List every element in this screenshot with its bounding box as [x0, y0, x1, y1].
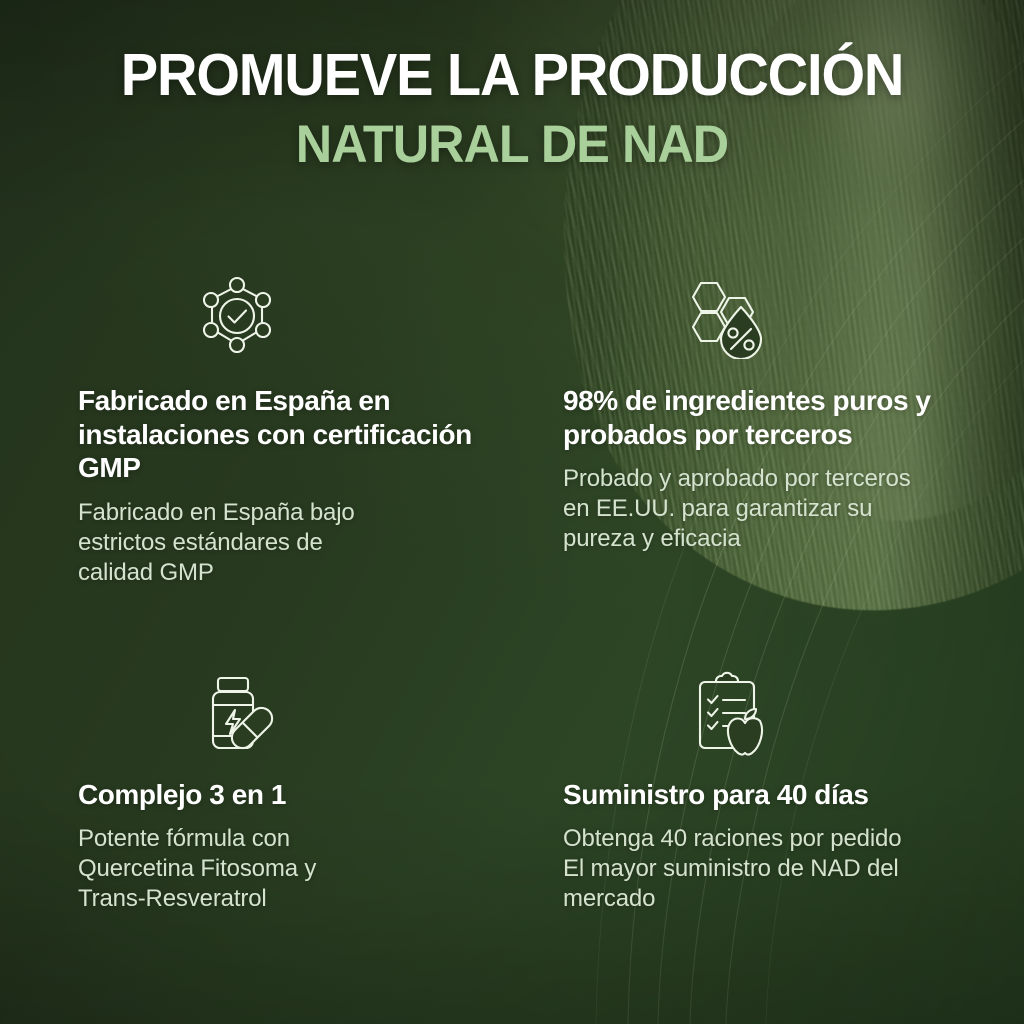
headline-line-2: NATURAL DE NAD	[26, 116, 999, 174]
feature-card-purity: 98% de ingredientes puros y probados por…	[512, 270, 973, 588]
feature-title: Fabricado en España en instalaciones con…	[78, 384, 482, 485]
promo-banner: PROMUEVE LA PRODUCCIÓN NATURAL DE NAD	[0, 0, 1024, 1024]
feature-grid: Fabricado en España en instalaciones con…	[0, 270, 1024, 914]
supplement-bottle-capsule-icon	[78, 668, 482, 760]
feature-card-complex: Complejo 3 en 1 Potente fórmula con Quer…	[0, 668, 512, 915]
feature-title: 98% de ingredientes puros y probados por…	[563, 384, 943, 451]
feature-row-bottom: Complejo 3 en 1 Potente fórmula con Quer…	[0, 668, 1024, 915]
feature-description: Probado y aprobado por terceros en EE.UU…	[563, 464, 943, 554]
feature-row-top: Fabricado en España en instalaciones con…	[0, 270, 1024, 588]
headline: PROMUEVE LA PRODUCCIÓN NATURAL DE NAD	[0, 44, 1024, 174]
feature-description: Potente fórmula con Quercetina Fitosoma …	[78, 824, 482, 914]
molecule-check-icon	[78, 270, 482, 362]
headline-line-1: PROMUEVE LA PRODUCCIÓN	[26, 44, 999, 106]
feature-description: Fabricado en España bajo estrictos están…	[78, 498, 482, 588]
feature-description: Obtenga 40 raciones por pedido El mayor …	[563, 824, 943, 914]
feature-title: Complejo 3 en 1	[78, 778, 482, 812]
feature-title: Suministro para 40 días	[563, 778, 943, 812]
feature-card-supply: Suministro para 40 días Obtenga 40 racio…	[512, 668, 973, 915]
clipboard-checklist-apple-icon	[563, 668, 943, 760]
feature-card-manufacturing: Fabricado en España en instalaciones con…	[0, 270, 512, 588]
honeycomb-droplet-percent-icon	[563, 270, 943, 362]
